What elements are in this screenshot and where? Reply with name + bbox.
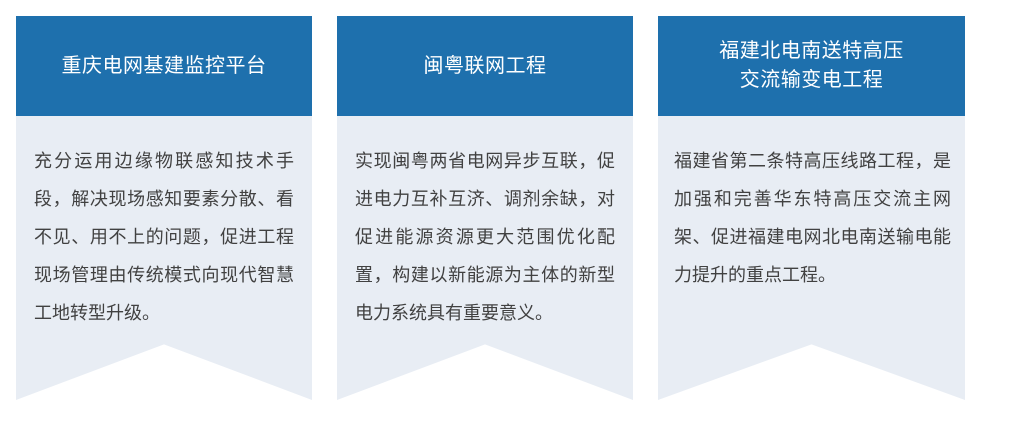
card-description-2: 实现闽粤两省电网异步互联，促进电力互补互济、调剂余缺，对促进能源资源更大范围优化… (355, 142, 615, 332)
card-body-1: 充分运用边缘物联感知技术手段，解决现场感知要素分散、看不见、用不上的问题，促进工… (16, 116, 312, 332)
card-header-2: 闽粤联网工程 (337, 16, 633, 116)
card-body-2: 实现闽粤两省电网异步互联，促进电力互补互济、调剂余缺，对促进能源资源更大范围优化… (337, 116, 633, 332)
card-title-3: 福建北电南送特高压 交流输变电工程 (719, 37, 904, 95)
card-header-3: 福建北电南送特高压 交流输变电工程 (658, 16, 965, 116)
ribbon-card-group: 重庆电网基建监控平台 充分运用边缘物联感知技术手段，解决现场感知要素分散、看不见… (0, 0, 1016, 421)
card-description-3: 福建省第二条特高压线路工程，是加强和完善华东特高压交流主网架、促进福建电网北电南… (674, 142, 951, 294)
card-title-1: 重庆电网基建监控平台 (62, 52, 267, 81)
ribbon-card-2[interactable]: 闽粤联网工程 实现闽粤两省电网异步互联，促进电力互补互济、调剂余缺，对促进能源资… (337, 16, 633, 400)
card-description-1: 充分运用边缘物联感知技术手段，解决现场感知要素分散、看不见、用不上的问题，促进工… (34, 142, 294, 332)
ribbon-card-1[interactable]: 重庆电网基建监控平台 充分运用边缘物联感知技术手段，解决现场感知要素分散、看不见… (16, 16, 312, 400)
ribbon-card-3[interactable]: 福建北电南送特高压 交流输变电工程 福建省第二条特高压线路工程，是加强和完善华东… (658, 16, 965, 400)
card-header-1: 重庆电网基建监控平台 (16, 16, 312, 116)
card-title-2: 闽粤联网工程 (424, 52, 547, 81)
card-body-3: 福建省第二条特高压线路工程，是加强和完善华东特高压交流主网架、促进福建电网北电南… (658, 116, 965, 294)
